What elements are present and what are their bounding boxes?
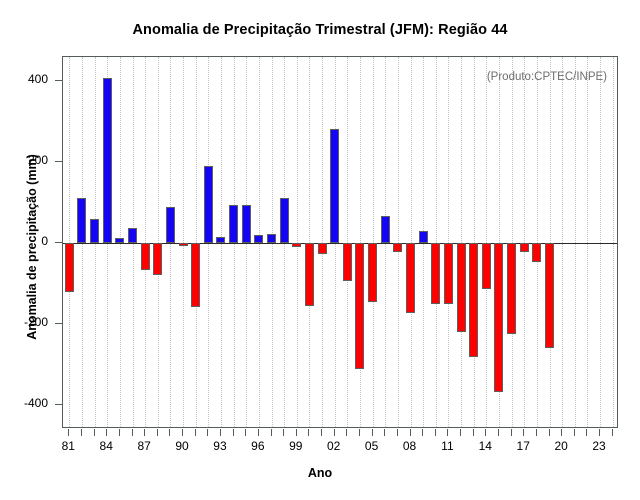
x-tick (296, 429, 297, 436)
bar (65, 243, 74, 292)
x-tick (599, 429, 600, 436)
grid-line (448, 57, 449, 427)
grid-line (512, 57, 513, 427)
grid-line (587, 57, 588, 427)
bar (419, 231, 428, 243)
bar (431, 243, 440, 304)
x-tick (119, 429, 120, 436)
x-tick-label: 93 (200, 439, 240, 453)
grid-line (562, 57, 563, 427)
grid-line (474, 57, 475, 427)
x-tick (372, 429, 373, 436)
x-tick (511, 429, 512, 436)
y-tick (55, 404, 62, 405)
x-tick (144, 429, 145, 436)
bar (204, 166, 213, 243)
x-tick (447, 429, 448, 436)
grid-line (297, 57, 298, 427)
x-tick (233, 429, 234, 436)
x-tick (549, 429, 550, 436)
x-axis-label: Ano (0, 466, 640, 480)
grid-line (411, 57, 412, 427)
x-tick (485, 429, 486, 436)
grid-line (145, 57, 146, 427)
x-tick-label: 08 (390, 439, 430, 453)
x-tick (422, 429, 423, 436)
bar (532, 243, 541, 262)
bar (482, 243, 491, 289)
plot-area: (Produto:CPTEC/INPE) (62, 56, 618, 428)
x-tick-label: 17 (503, 439, 543, 453)
x-tick (359, 429, 360, 436)
x-tick (498, 429, 499, 436)
x-tick (586, 429, 587, 436)
grid-line (196, 57, 197, 427)
bar (507, 243, 516, 334)
x-tick (182, 429, 183, 436)
chart-title: Anomalia de Precipitação Trimestral (JFM… (0, 22, 640, 38)
bar (393, 243, 402, 252)
x-tick (473, 429, 474, 436)
y-tick (55, 80, 62, 81)
grid-line (486, 57, 487, 427)
bar (330, 129, 339, 243)
x-tick (271, 429, 272, 436)
x-tick-label: 05 (352, 439, 392, 453)
bar (545, 243, 554, 348)
grid-line (158, 57, 159, 427)
x-tick (258, 429, 259, 436)
x-tick (106, 429, 107, 436)
grid-line (360, 57, 361, 427)
bar (128, 228, 137, 243)
grid-line (537, 57, 538, 427)
bar (254, 235, 263, 243)
x-tick (536, 429, 537, 436)
grid-line (398, 57, 399, 427)
x-tick (460, 429, 461, 436)
bar (191, 243, 200, 307)
x-tick (561, 429, 562, 436)
bar (368, 243, 377, 302)
y-tick (55, 323, 62, 324)
bar (343, 243, 352, 281)
grid-line (436, 57, 437, 427)
bar (166, 207, 175, 243)
bar (77, 198, 86, 243)
x-tick (68, 429, 69, 436)
x-tick (94, 429, 95, 436)
x-tick-label: 02 (314, 439, 354, 453)
bar (469, 243, 478, 357)
bar (292, 243, 301, 247)
bar (381, 216, 390, 243)
x-tick (384, 429, 385, 436)
bar (444, 243, 453, 304)
x-tick (157, 429, 158, 436)
grid-line (600, 57, 601, 427)
grid-line (347, 57, 348, 427)
x-tick-label: 20 (541, 439, 581, 453)
source-annotation: (Produto:CPTEC/INPE) (487, 71, 607, 83)
bar (520, 243, 529, 252)
bar (179, 243, 188, 246)
x-tick (321, 429, 322, 436)
x-tick (207, 429, 208, 436)
x-tick-label: 23 (579, 439, 619, 453)
x-tick-label: 14 (465, 439, 505, 453)
y-tick (55, 242, 62, 243)
grid-line (322, 57, 323, 427)
bar (494, 243, 503, 392)
bar (355, 243, 364, 369)
bar (141, 243, 150, 270)
chart-root: Anomalia de Precipitação Trimestral (JFM… (0, 0, 640, 500)
x-tick (81, 429, 82, 436)
x-tick (220, 429, 221, 436)
x-tick (612, 429, 613, 436)
y-tick-label: 0 (0, 234, 48, 248)
bar (216, 237, 225, 243)
grid-line (575, 57, 576, 427)
x-tick-label: 11 (427, 439, 467, 453)
bar (90, 219, 99, 243)
x-tick-label: 99 (276, 439, 316, 453)
x-tick-label: 90 (162, 439, 202, 453)
bar (103, 78, 112, 243)
x-tick (245, 429, 246, 436)
x-tick (334, 429, 335, 436)
grid-line (461, 57, 462, 427)
x-tick (523, 429, 524, 436)
plot-inner (63, 57, 617, 427)
bar (318, 243, 327, 254)
grid-line (613, 57, 614, 427)
grid-line (183, 57, 184, 427)
y-tick (55, 161, 62, 162)
grid-line (373, 57, 374, 427)
x-tick (397, 429, 398, 436)
y-tick-label: -400 (0, 396, 48, 410)
bar (229, 205, 238, 243)
grid-line (69, 57, 70, 427)
bar (115, 238, 124, 243)
grid-line (524, 57, 525, 427)
x-tick-label: 81 (48, 439, 88, 453)
grid-line (309, 57, 310, 427)
x-tick-label: 84 (86, 439, 126, 453)
x-tick (574, 429, 575, 436)
bar (242, 205, 251, 243)
x-tick-label: 87 (124, 439, 164, 453)
bar (406, 243, 415, 313)
x-tick-label: 96 (238, 439, 278, 453)
x-tick (169, 429, 170, 436)
bar (267, 234, 276, 243)
x-tick (308, 429, 309, 436)
grid-line (550, 57, 551, 427)
bar (457, 243, 466, 332)
bar (305, 243, 314, 306)
bar (280, 198, 289, 243)
y-tick-label: 400 (0, 72, 48, 86)
x-tick (283, 429, 284, 436)
x-tick (410, 429, 411, 436)
bar (153, 243, 162, 275)
y-tick-label: -200 (0, 315, 48, 329)
x-tick (195, 429, 196, 436)
y-tick-label: 200 (0, 153, 48, 167)
x-tick (435, 429, 436, 436)
x-tick (346, 429, 347, 436)
x-tick (132, 429, 133, 436)
